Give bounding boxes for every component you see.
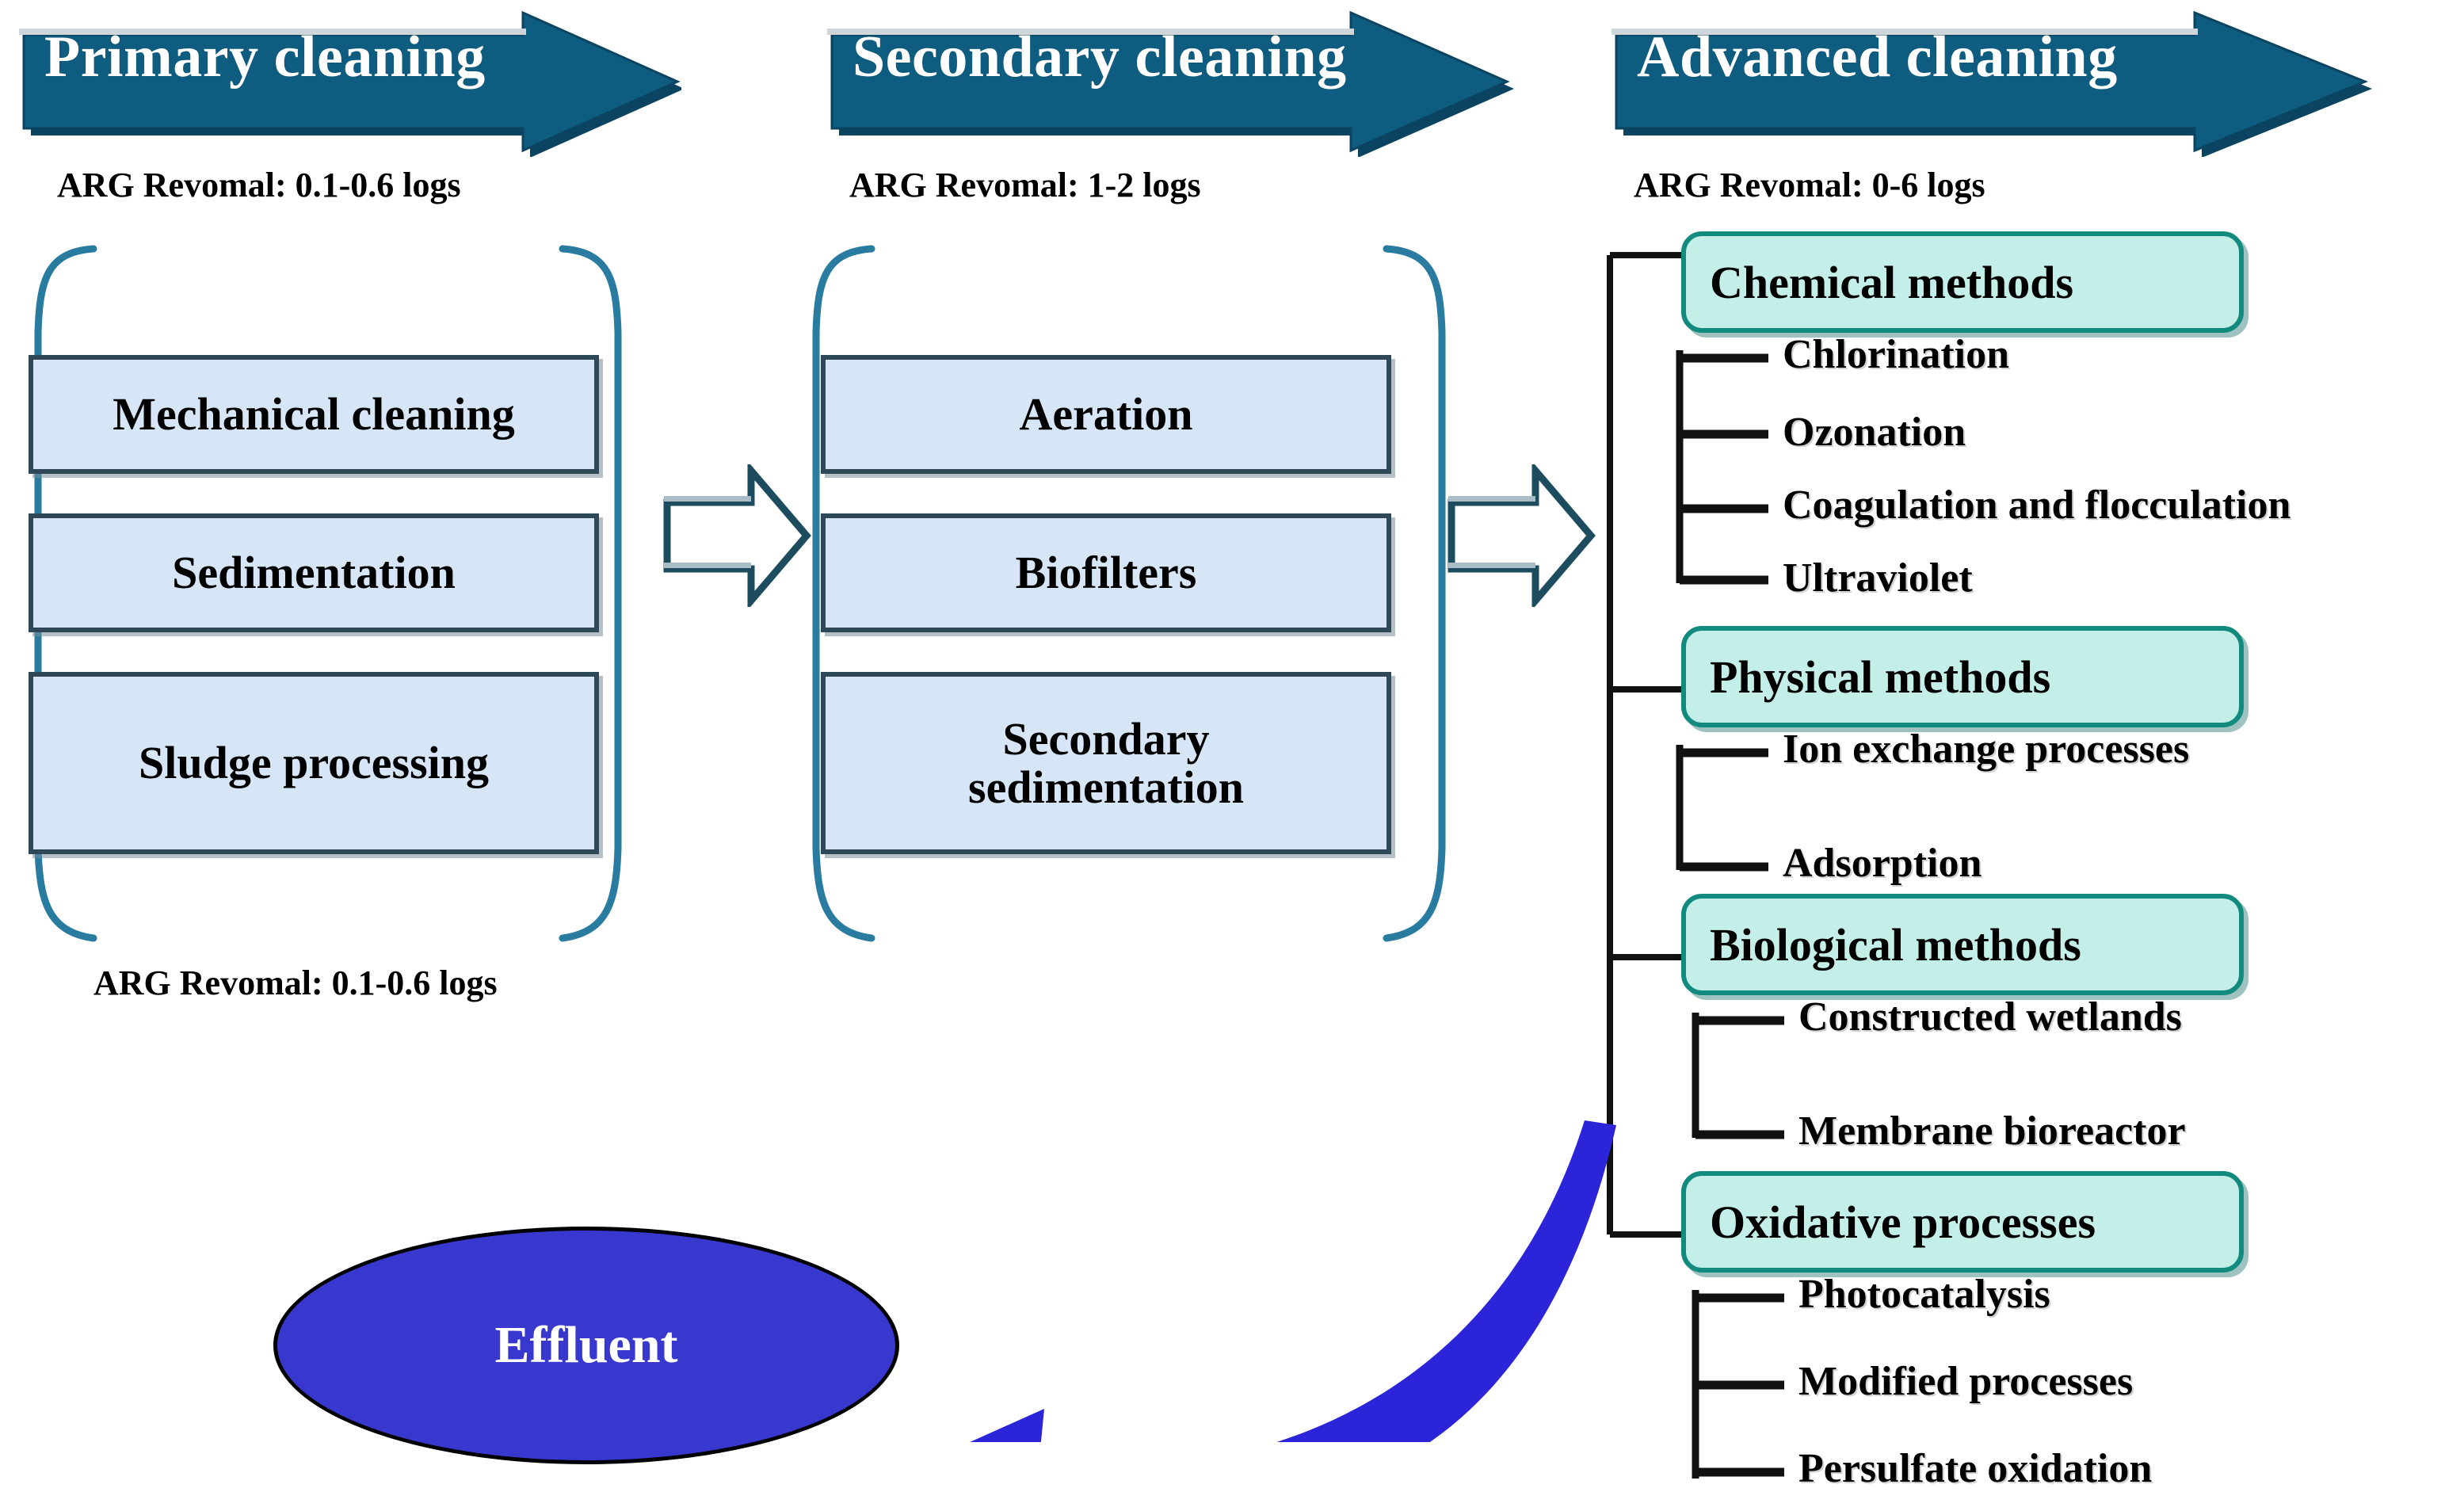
effluent-label: Effluent bbox=[495, 1315, 678, 1376]
curved-left-arrow-icon bbox=[824, 1101, 1664, 1442]
stage-box-label: Secondary sedimentation bbox=[881, 715, 1331, 812]
banner-label-advanced: Advanced cleaning bbox=[1637, 24, 2118, 91]
stage-box-label: Biofilters bbox=[1016, 548, 1197, 597]
tree-category-label: Biological methods bbox=[1710, 918, 2081, 971]
tree-category-label: Chemical methods bbox=[1710, 256, 2073, 309]
stage-box-label: Mechanical cleaning bbox=[113, 390, 514, 438]
tree-category-label: Physical methods bbox=[1710, 651, 2050, 704]
stage-box-aeration[interactable]: Aeration bbox=[821, 355, 1391, 474]
tree-category-physical-methods[interactable]: Physical methods bbox=[1681, 626, 2244, 727]
stage-box-sedimentation[interactable]: Sedimentation bbox=[29, 513, 599, 632]
arg-top-primary: ARG Revomal: 0.1-0.6 logs bbox=[57, 165, 461, 205]
stage-box-label: Sludge processing bbox=[139, 738, 489, 787]
tree-item-adsorption[interactable]: Adsorption bbox=[1783, 840, 1981, 887]
tree-item-chlorination[interactable]: Chlorination bbox=[1783, 331, 2009, 378]
arg-top-advanced: ARG Revomal: 0-6 logs bbox=[1634, 165, 1985, 205]
tree-item-ultraviolet[interactable]: Ultraviolet bbox=[1783, 555, 1973, 601]
tree-category-chemical-methods[interactable]: Chemical methods bbox=[1681, 231, 2244, 333]
stage-box-label: Aeration bbox=[1019, 390, 1192, 438]
tree-item-ozonation[interactable]: Ozonation bbox=[1783, 409, 1966, 456]
chevron-right-arrow-icon-2 bbox=[1447, 464, 1597, 607]
banner-secondary-cleaning: Secondary cleaning bbox=[816, 6, 1513, 157]
tree-item-photocatalysis[interactable]: Photocatalysis bbox=[1798, 1271, 2050, 1318]
arg-bottom-primary: ARG Revomal: 0.1-0.6 logs bbox=[93, 963, 498, 1003]
stage-box-sludge-processing[interactable]: Sludge processing bbox=[29, 672, 599, 854]
banner-primary-cleaning: Primary cleaning bbox=[8, 6, 681, 157]
arg-top-secondary: ARG Revomal: 1-2 logs bbox=[849, 165, 1201, 205]
stage-box-secondary-sedimentation[interactable]: Secondary sedimentation bbox=[821, 672, 1391, 854]
chevron-right-arrow-icon-1 bbox=[662, 464, 813, 607]
tree-item-modified-processes[interactable]: Modified processes bbox=[1798, 1358, 2133, 1405]
diagram-canvas: Primary cleaning ARG Revomal: 0.1-0.6 lo… bbox=[0, 0, 2464, 1481]
tree-item-constructed-wetlands[interactable]: Constructed wetlands bbox=[1798, 994, 2182, 1040]
tree-item-membrane-bioreactor[interactable]: Membrane bioreactor bbox=[1798, 1108, 2186, 1154]
stage-box-label: Sedimentation bbox=[172, 548, 456, 597]
tree-item-persulfate-oxidation[interactable]: Persulfate oxidation bbox=[1798, 1445, 2152, 1492]
stage-box-mechanical-cleaning[interactable]: Mechanical cleaning bbox=[29, 355, 599, 474]
tree-category-oxidative-processes[interactable]: Oxidative processes bbox=[1681, 1171, 2244, 1273]
tree-item-ion-exchange-processes[interactable]: Ion exchange processes bbox=[1783, 726, 2189, 773]
tree-category-label: Oxidative processes bbox=[1710, 1196, 2096, 1249]
banner-advanced-cleaning: Advanced cleaning bbox=[1600, 6, 2393, 157]
tree-item-coagulation-and-flocculation[interactable]: Coagulation and flocculation bbox=[1783, 482, 2290, 528]
stage-box-biofilters[interactable]: Biofilters bbox=[821, 513, 1391, 632]
effluent-node[interactable]: Effluent bbox=[273, 1227, 899, 1464]
banner-label-secondary: Secondary cleaning bbox=[852, 24, 1347, 91]
tree-category-biological-methods[interactable]: Biological methods bbox=[1681, 894, 2244, 995]
banner-label-primary: Primary cleaning bbox=[44, 24, 486, 91]
